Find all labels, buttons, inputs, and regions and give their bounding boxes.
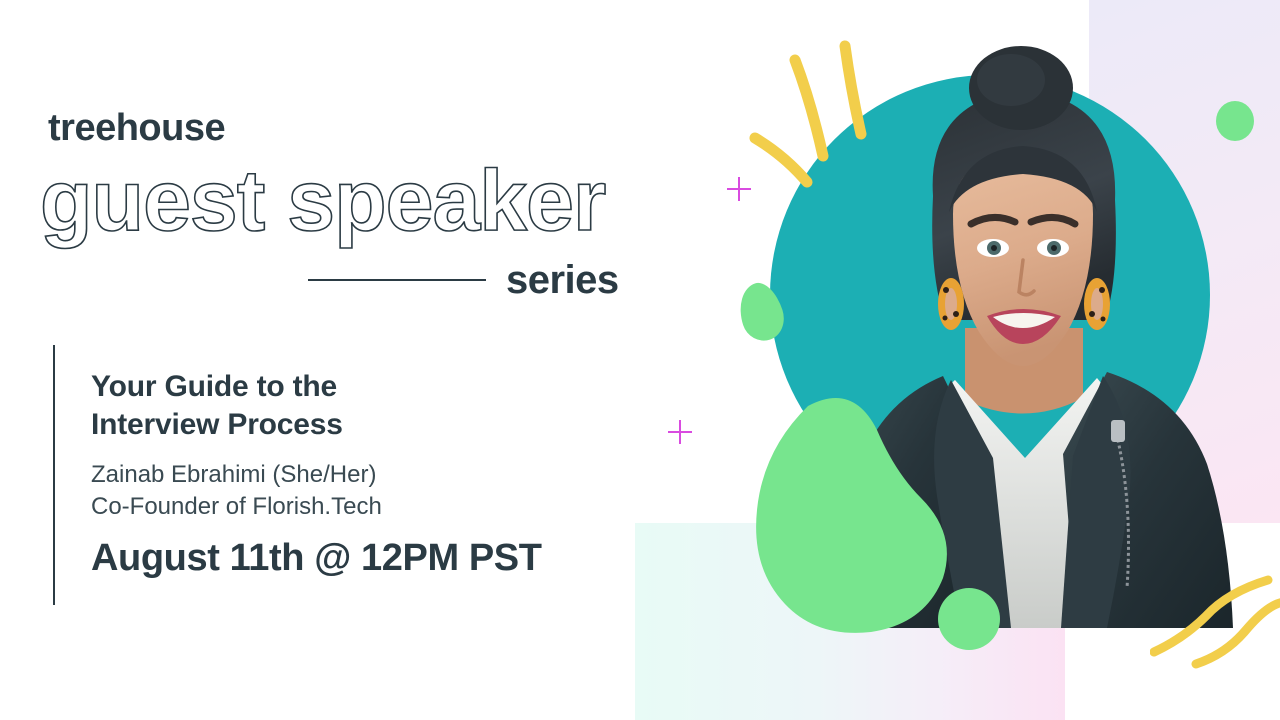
magenta-plus-icon-top	[727, 177, 751, 201]
event-date-time: August 11th @ 12PM PST	[91, 537, 611, 580]
speaker-role: Co-Founder of Florish.Tech	[91, 491, 611, 523]
sparkle-strokes	[745, 38, 890, 198]
speaker-name: Zainab Ebrahimi (She/Her)	[91, 459, 611, 491]
green-circle-bottom	[938, 588, 1000, 650]
talk-info-block: Your Guide to the Interview Process Zain…	[91, 368, 611, 580]
talk-title: Your Guide to the Interview Process	[91, 368, 611, 445]
magenta-plus-icon-middle	[668, 420, 692, 444]
green-blob-large-shape	[745, 392, 960, 637]
green-blob-large	[745, 392, 960, 637]
info-vertical-rule	[53, 345, 55, 605]
squiggle-strokes	[1150, 560, 1280, 670]
brand-wordmark: treehouse	[48, 107, 225, 150]
series-label: series	[506, 258, 619, 303]
series-row: series	[308, 256, 623, 304]
series-divider-rule	[308, 279, 486, 281]
promo-slide: treehouse guest speaker series Your Guid…	[0, 0, 1280, 720]
yellow-squiggle-icon	[1150, 560, 1280, 670]
green-circle-top-right	[1216, 101, 1254, 141]
yellow-sparkle-icon	[745, 38, 890, 198]
headline-outline: guest speaker	[40, 158, 605, 244]
